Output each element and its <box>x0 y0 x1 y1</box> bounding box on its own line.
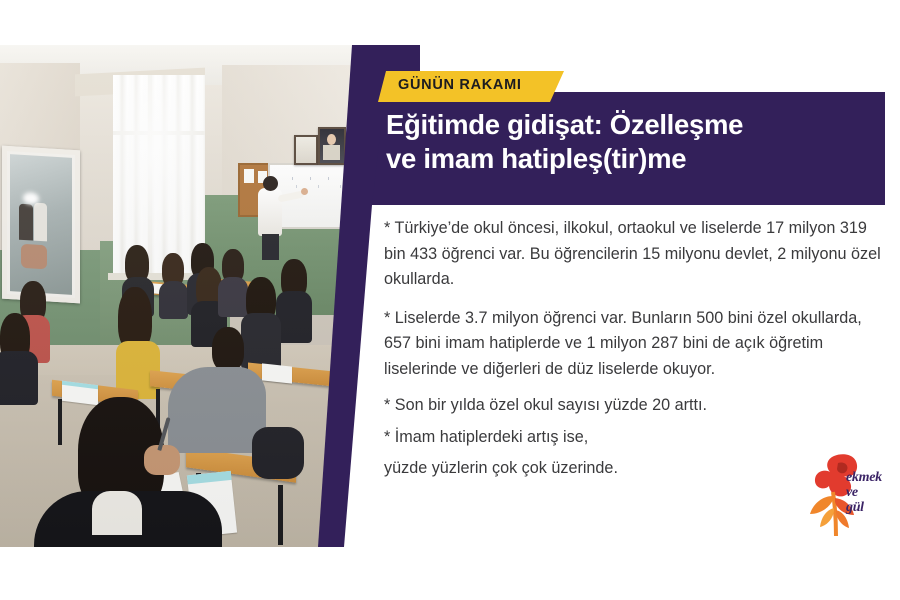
student-collar <box>92 491 142 535</box>
desk-leg <box>58 399 62 445</box>
mirror-reflection-figure <box>34 203 47 242</box>
wall-portrait <box>294 135 318 165</box>
body-paragraph-1: * Türkiye’de okul öncesi, ilkokul, ortao… <box>384 216 884 293</box>
exam-paper <box>262 363 292 383</box>
portrait-head <box>327 134 336 145</box>
body-paragraph-4: * İmam hatiplerdeki artış ise, <box>384 425 884 451</box>
mirror-reflection-figure <box>19 204 33 241</box>
classroom-photo <box>0 45 372 547</box>
infographic-card: GÜNÜN RAKAMI Eğitimde gidişat: Özelleşme… <box>0 0 900 600</box>
teacher-hand <box>301 188 308 195</box>
logo-word-line-2: ve <box>846 485 882 500</box>
logo-word-line-1: ekmek <box>846 470 882 485</box>
article-body: * Türkiye’de okul öncesi, ilkokul, ortao… <box>384 216 884 482</box>
teacher-legs <box>262 234 279 260</box>
teacher-head <box>263 176 278 191</box>
student-legs <box>252 427 304 479</box>
headline-line-1: Eğitimde gidişat: Özelleşme <box>386 109 743 140</box>
desk-leg <box>278 485 283 545</box>
body-paragraph-3: * Son bir yılda özel okul sayısı yüzde 2… <box>384 393 884 419</box>
student-hand <box>144 445 180 475</box>
ekmek-ve-gul-logo[interactable]: ekmek ve gül <box>800 452 892 538</box>
mirror-reflection-figure <box>21 244 47 270</box>
ataturk-portrait <box>318 127 346 165</box>
portrait-body <box>323 145 340 160</box>
exam-paper <box>62 381 98 405</box>
headline-line-2: ve imam hatipleş(tir)me <box>386 142 886 176</box>
student-hair <box>212 327 244 371</box>
student-torso <box>276 291 312 343</box>
student-torso <box>0 351 38 405</box>
headline: Eğitimde gidişat: Özelleşme ve imam hati… <box>386 108 886 176</box>
framed-mirror <box>2 146 80 304</box>
student-torso <box>241 313 281 369</box>
mirror-glare <box>23 192 39 205</box>
body-paragraph-2: * Liselerde 3.7 milyon öğrenci var. Bunl… <box>384 306 884 383</box>
student-torso <box>218 277 248 317</box>
window-daylight <box>113 75 205 275</box>
logo-wordmark: ekmek ve gül <box>846 470 882 515</box>
category-tag-label: GÜNÜN RAKAMI <box>398 77 578 93</box>
logo-word-line-3: gül <box>846 500 882 515</box>
student-torso <box>159 281 188 319</box>
classroom-scene <box>0 45 372 547</box>
cork-notice <box>244 169 254 183</box>
